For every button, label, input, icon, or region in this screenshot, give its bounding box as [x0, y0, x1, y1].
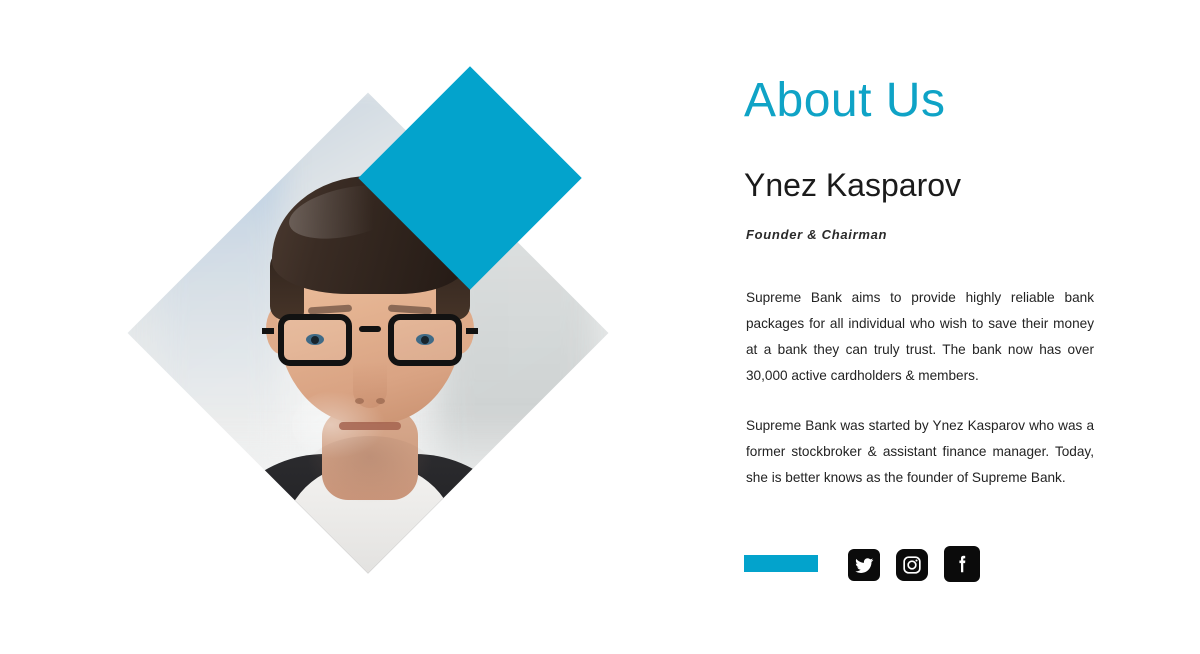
- section-heading: About Us: [744, 77, 945, 125]
- about-paragraph-1: Supreme Bank aims to provide highly reli…: [746, 285, 1094, 389]
- twitter-icon[interactable]: [848, 549, 880, 581]
- subject-nose: [353, 362, 387, 408]
- subject-eye-left: [306, 334, 324, 345]
- about-paragraphs: Supreme Bank aims to provide highly reli…: [746, 285, 1094, 491]
- subject-mouth: [339, 422, 401, 430]
- facebook-icon[interactable]: [944, 546, 980, 582]
- accent-bar: [744, 555, 818, 572]
- glasses-temple-left: [262, 328, 274, 334]
- person-role: Founder & Chairman: [746, 227, 887, 242]
- social-links: [744, 546, 1094, 586]
- hero-visual: [0, 0, 700, 654]
- glasses-bridge: [359, 326, 381, 332]
- subject-chin-shadow: [306, 436, 434, 504]
- about-paragraph-2: Supreme Bank was started by Ynez Kasparo…: [746, 413, 1094, 491]
- subject-nostril-right: [376, 398, 385, 404]
- subject-nostril-left: [355, 398, 364, 404]
- subject-glasses: [272, 314, 468, 368]
- glasses-temple-right: [466, 328, 478, 334]
- about-content: About Us Ynez Kasparov Founder & Chairma…: [744, 0, 1094, 654]
- instagram-icon[interactable]: [896, 549, 928, 581]
- person-name: Ynez Kasparov: [744, 168, 961, 203]
- subject-eye-right: [416, 334, 434, 345]
